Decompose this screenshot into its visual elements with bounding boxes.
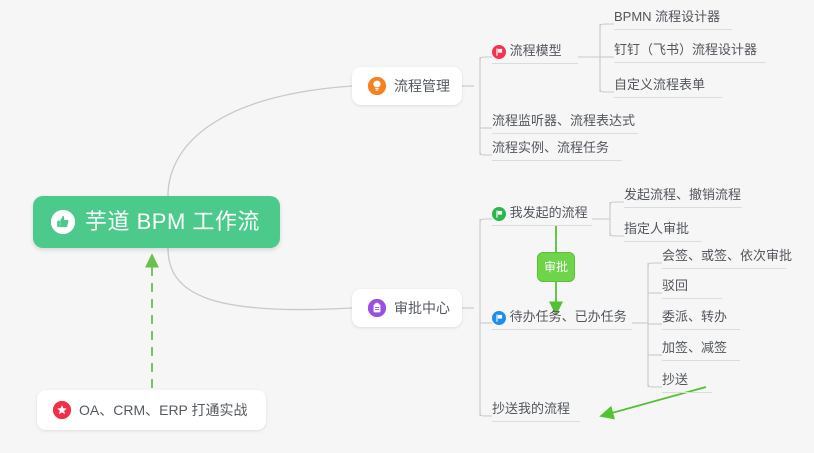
leaf-label: 流程实例、流程任务 bbox=[492, 140, 609, 155]
branch-process-management[interactable]: 流程管理 bbox=[352, 67, 462, 105]
leaf-label: 我发起的流程 bbox=[510, 205, 588, 220]
pill-label: 审批 bbox=[544, 261, 568, 273]
leaf-bpmn-designer[interactable]: BPMN 流程设计器 bbox=[614, 9, 732, 30]
connector-ac-arm-3 bbox=[480, 410, 492, 416]
lightbulb-icon bbox=[368, 77, 386, 95]
connector-mine-arm-1 bbox=[610, 202, 624, 208]
root-label: 芋道 BPM 工作流 bbox=[85, 211, 260, 233]
connector-root-to-process-management bbox=[168, 86, 352, 196]
leaf-label: 自定义流程表单 bbox=[614, 77, 705, 92]
leaf-label: 委派、转办 bbox=[662, 309, 727, 324]
leaf-label: BPMN 流程设计器 bbox=[614, 9, 720, 24]
leaf-reject[interactable]: 驳回 bbox=[662, 278, 722, 299]
root-node[interactable]: 芋道 BPM 工作流 bbox=[33, 196, 280, 248]
flag-icon: 我发起的流程 bbox=[492, 205, 588, 221]
leaf-cc-to-me[interactable]: 抄送我的流程 bbox=[492, 401, 580, 422]
leaf-todo-done[interactable]: 待办任务、已办任务 bbox=[492, 308, 632, 330]
leaf-label: 抄送 bbox=[662, 372, 688, 387]
star-icon bbox=[53, 401, 71, 419]
leaf-label: 加签、减签 bbox=[662, 340, 727, 355]
branch-label: 流程管理 bbox=[394, 79, 450, 93]
leaf-label: 待办任务、已办任务 bbox=[510, 309, 627, 324]
footnote-node[interactable]: OA、CRM、ERP 打通实战 bbox=[37, 390, 266, 430]
leaf-listener-expression[interactable]: 流程监听器、流程表达式 bbox=[492, 113, 638, 134]
connector-todo-arm-5 bbox=[648, 381, 662, 387]
leaf-add-remove-sign[interactable]: 加签、减签 bbox=[662, 340, 740, 361]
clipboard-icon bbox=[368, 299, 386, 317]
connector-pm-top-arm bbox=[480, 57, 492, 63]
leaf-assignee-approval[interactable]: 指定人审批 bbox=[624, 221, 702, 242]
leaf-label: 流程模型 bbox=[510, 43, 562, 58]
leaf-custom-form[interactable]: 自定义流程表单 bbox=[614, 77, 722, 98]
branch-label: 审批中心 bbox=[394, 301, 450, 315]
connector-model-arm-1 bbox=[600, 24, 614, 30]
leaf-instance-task[interactable]: 流程实例、流程任务 bbox=[492, 140, 622, 161]
leaf-delegate-transfer[interactable]: 委派、转办 bbox=[662, 309, 740, 330]
mindmap-canvas: 芋道 BPM 工作流 流程管理 bbox=[0, 0, 814, 453]
leaf-label: 驳回 bbox=[662, 278, 688, 293]
leaf-start-cancel[interactable]: 发起流程、撤销流程 bbox=[624, 187, 742, 208]
approval-annotation-pill[interactable]: 审批 bbox=[537, 252, 575, 282]
connector-model-arm-3 bbox=[600, 86, 614, 92]
leaf-label: 钉钉（飞书）流程设计器 bbox=[614, 42, 757, 57]
connector-ac-arm-1 bbox=[480, 219, 492, 225]
thumbs-up-icon bbox=[51, 210, 75, 234]
leaf-countersign[interactable]: 会签、或签、依次审批 bbox=[662, 248, 786, 269]
connector-root-to-approval-center bbox=[168, 248, 352, 310]
leaf-cc[interactable]: 抄送 bbox=[662, 372, 712, 393]
leaf-label: 发起流程、撤销流程 bbox=[624, 187, 741, 202]
leaf-label: 会签、或签、依次审批 bbox=[662, 248, 792, 263]
leaf-process-model[interactable]: 流程模型 bbox=[492, 42, 578, 64]
leaf-label: 流程监听器、流程表达式 bbox=[492, 113, 635, 128]
footnote-label: OA、CRM、ERP 打通实战 bbox=[79, 403, 248, 417]
leaf-label: 抄送我的流程 bbox=[492, 401, 570, 416]
connector-mine-arm-2 bbox=[610, 230, 624, 236]
branch-approval-center[interactable]: 审批中心 bbox=[352, 289, 462, 327]
leaf-dingtalk-designer[interactable]: 钉钉（飞书）流程设计器 bbox=[614, 42, 766, 63]
flag-icon: 流程模型 bbox=[492, 43, 562, 59]
flag-icon: 待办任务、已办任务 bbox=[492, 309, 627, 325]
leaf-label: 指定人审批 bbox=[624, 221, 689, 236]
leaf-my-initiated[interactable]: 我发起的流程 bbox=[492, 204, 592, 226]
connector-todo-arm-1 bbox=[648, 263, 662, 269]
connector-pm-bot-arm bbox=[480, 149, 492, 155]
